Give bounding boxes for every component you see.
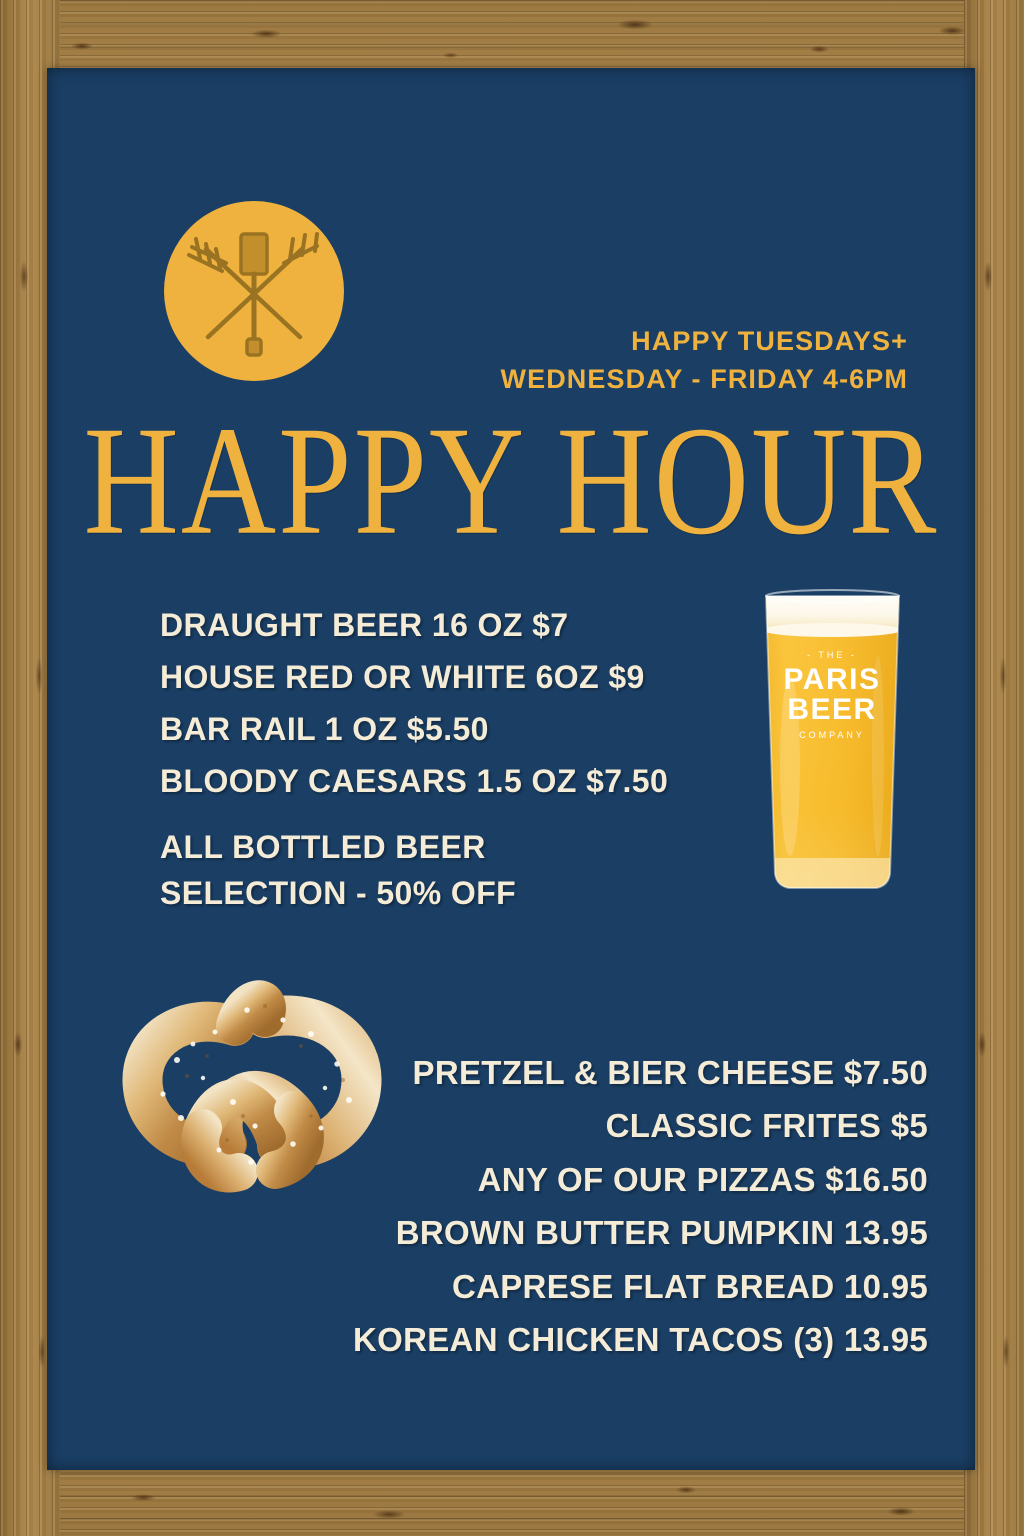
food-item: ANY OF OUR PIZZAS $16.50 [353, 1153, 928, 1206]
food-list: PRETZEL & BIER CHEESE $7.50 CLASSIC FRIT… [353, 1046, 928, 1367]
drink-item: BLOODY CAESARS 1.5 OZ $7.50 [160, 755, 668, 807]
drinks-list: DRAUGHT BEER 16 OZ $7 HOUSE RED OR WHITE… [160, 599, 668, 919]
crossed-farm-tools-icon [164, 201, 344, 381]
drink-item: BAR RAIL 1 OZ $5.50 [160, 703, 668, 755]
soft-pretzel-icon [115, 948, 385, 1198]
schedule-eyebrow: HAPPY TUESDAYS+ WEDNESDAY - FRIDAY 4-6PM [501, 323, 909, 399]
bottled-beer-promo-line-2: SELECTION - 50% OFF [160, 867, 668, 919]
happy-hour-poster: HAPPY TUESDAYS+ WEDNESDAY - FRIDAY 4-6PM… [0, 0, 1024, 1536]
drink-item: HOUSE RED OR WHITE 6OZ $9 [160, 651, 668, 703]
pretzel-image [115, 948, 385, 1198]
eyebrow-line-1: HAPPY TUESDAYS+ [501, 323, 909, 361]
food-item: CLASSIC FRITES $5 [353, 1099, 928, 1152]
glass-brand-line2: BEER [787, 693, 876, 726]
page-title: HAPPY HOUR [47, 403, 975, 559]
food-item: CAPRESE FLAT BREAD 10.95 [353, 1260, 928, 1313]
food-item: BROWN BUTTER PUMPKIN 13.95 [353, 1206, 928, 1259]
glass-brand-bottom: COMPANY [799, 730, 865, 740]
drink-item: DRAUGHT BEER 16 OZ $7 [160, 599, 668, 651]
glass-brand-line1: PARIS [784, 663, 881, 696]
food-item: KOREAN CHICKEN TACOS (3) 13.95 [353, 1313, 928, 1366]
glass-brand-top: - THE - [807, 650, 857, 660]
beer-glass-image: - THE - PARIS BEER COMPANY [750, 586, 915, 906]
food-item: PRETZEL & BIER CHEESE $7.50 [353, 1046, 928, 1099]
menu-panel: HAPPY TUESDAYS+ WEDNESDAY - FRIDAY 4-6PM… [47, 68, 975, 1470]
restaurant-logo-badge [164, 201, 344, 381]
bottled-beer-promo-line-1: ALL BOTTLED BEER [160, 828, 668, 867]
pint-glass-icon: - THE - PARIS BEER COMPANY [750, 586, 915, 906]
